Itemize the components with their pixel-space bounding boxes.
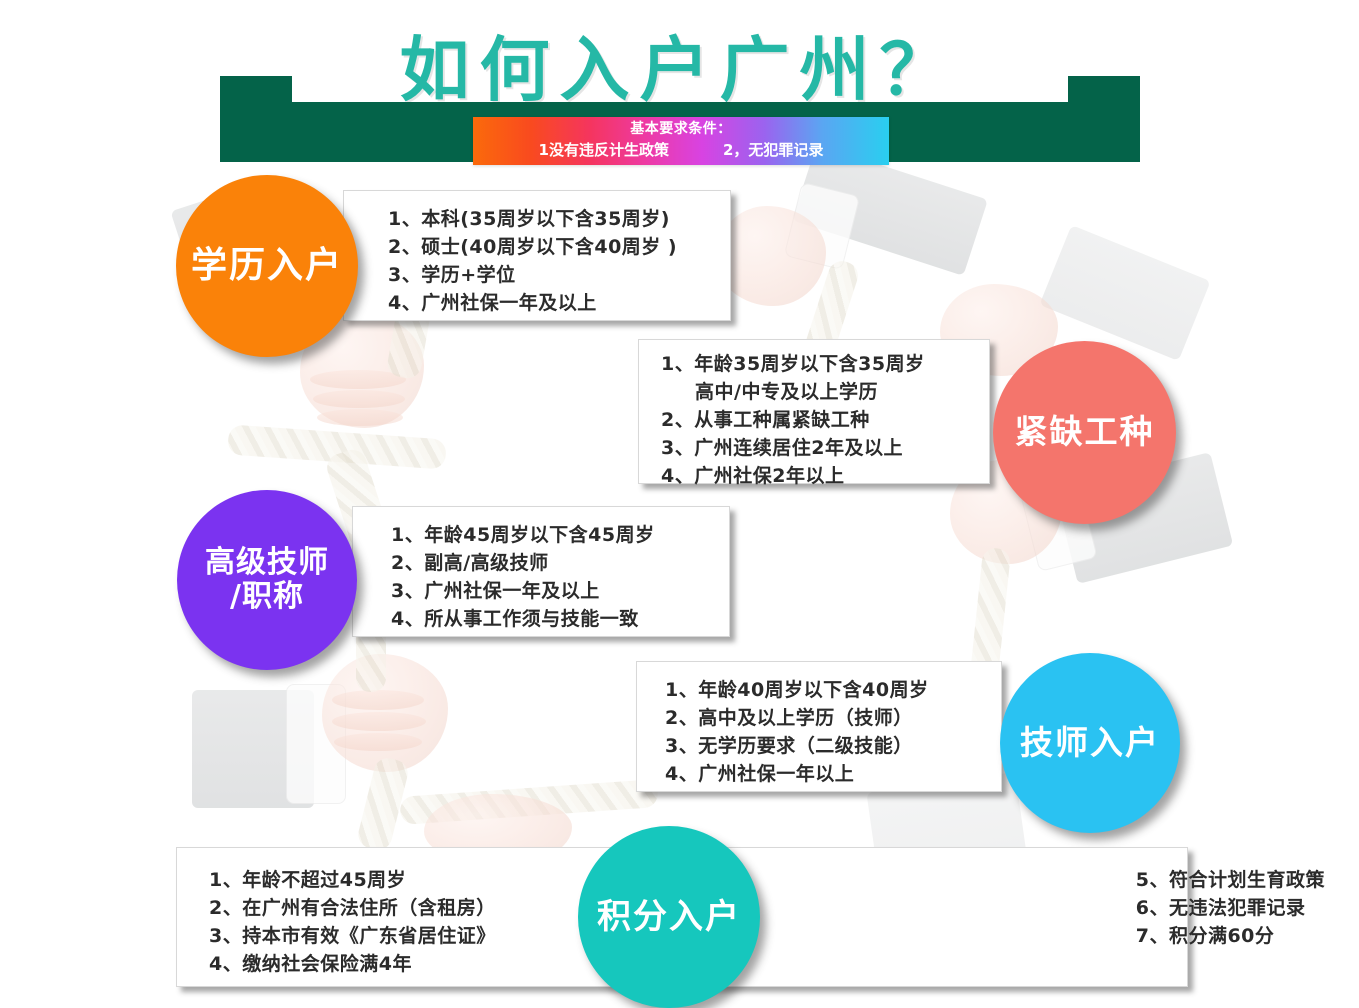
jifen-requirement-list-left: 1、年龄不超过45周岁 2、在广州有合法住所（含租房） 3、持本市有效《广东省居… (177, 866, 496, 978)
list-item: 6、无违法犯罪记录 (1136, 894, 1325, 922)
category-label: 技师入户 (1020, 725, 1160, 762)
list-item: 1、年龄40周岁以下含40周岁 (665, 676, 1001, 704)
category-badge-jishi-ruhu[interactable]: 技师入户 (1000, 653, 1180, 833)
list-item: 2、从事工种属紧缺工种 (661, 406, 989, 434)
finger-lower-left-3 (334, 733, 422, 751)
jinque-requirement-list: 1、年龄35周岁以下含35周岁 高中/中专及以上学历 2、从事工种属紧缺工种 3… (661, 350, 989, 490)
panel-jinque-gongzhong: 1、年龄35周岁以下含35周岁 高中/中专及以上学历 2、从事工种属紧缺工种 3… (638, 339, 990, 484)
category-label: 学历入户 (191, 246, 343, 286)
list-item: 3、广州连续居住2年及以上 (661, 434, 989, 462)
basic-requirements-banner: 基本要求条件： 1没有违反计生政策 2，无犯罪记录 (473, 117, 889, 165)
basic-requirement-item-2: 2，无犯罪记录 (723, 139, 823, 161)
panel-jishi-ruhu: 1、年龄40周岁以下含40周岁 2、高中及以上学历（技师） 3、无学历要求（二级… (636, 661, 1002, 792)
infographic-poster: 如何入户广州？ 基本要求条件： 1没有违反计生政策 2，无犯罪记录 1、本科(3… (0, 0, 1359, 1008)
list-item: 7、积分满60分 (1136, 922, 1325, 950)
category-badge-gaoji-jishi[interactable]: 高级技师 /职称 (177, 490, 357, 670)
list-item: 1、年龄35周岁以下含35周岁 (661, 350, 989, 378)
list-item: 2、硕士(40周岁以下含40周岁 ) (388, 233, 730, 261)
list-item: 高中/中专及以上学历 (661, 378, 989, 406)
finger-lower-left-1 (332, 690, 424, 710)
list-item: 1、年龄45周岁以下含45周岁 (391, 521, 729, 549)
list-item: 4、广州社保一年以上 (665, 760, 1001, 788)
category-badge-jinque-gongzhong[interactable]: 紧缺工种 (993, 341, 1176, 524)
category-badge-xueli-ruhu[interactable]: 学历入户 (176, 175, 358, 357)
list-item: 2、副高/高级技师 (391, 549, 729, 577)
list-item: 3、持本市有效《广东省居住证》 (209, 922, 496, 950)
list-item: 1、年龄不超过45周岁 (209, 866, 496, 894)
finger-upper-left-2 (313, 390, 405, 408)
category-label-line1: 高级技师 (205, 545, 329, 580)
basic-requirements-heading: 基本要求条件： (473, 117, 889, 139)
list-item: 5、符合计划生育政策 (1136, 866, 1325, 894)
panel-gaoji-jishi: 1、年龄45周岁以下含45周岁 2、副高/高级技师 3、广州社保一年及以上 4、… (352, 506, 730, 637)
list-item: 3、无学历要求（二级技能） (665, 732, 1001, 760)
list-item: 3、广州社保一年及以上 (391, 577, 729, 605)
finger-lower-left-2 (332, 712, 426, 731)
hand-upper-right (716, 206, 826, 306)
list-item: 1、本科(35周岁以下含35周岁) (388, 205, 730, 233)
basic-requirement-item-1: 1没有违反计生政策 (539, 139, 669, 161)
list-item: 2、高中及以上学历（技师） (665, 704, 1001, 732)
list-item: 4、广州社保2年以上 (661, 462, 989, 490)
category-label-wrap: 高级技师 /职称 (205, 546, 329, 613)
panel-xueli-ruhu: 1、本科(35周岁以下含35周岁) 2、硕士(40周岁以下含40周岁 ) 3、学… (343, 190, 731, 321)
sleeve-right-2 (1039, 225, 1210, 361)
xueli-requirement-list: 1、本科(35周岁以下含35周岁) 2、硕士(40周岁以下含40周岁 ) 3、学… (388, 205, 730, 317)
list-item: 4、所从事工作须与技能一致 (391, 605, 729, 633)
jishi-requirement-list: 1、年龄40周岁以下含40周岁 2、高中及以上学历（技师） 3、无学历要求（二级… (665, 676, 1001, 788)
basic-requirements-row: 1没有违反计生政策 2，无犯罪记录 (473, 139, 889, 161)
list-item: 4、缴纳社会保险满4年 (209, 950, 496, 978)
list-item: 3、学历+学位 (388, 261, 730, 289)
list-item: 2、在广州有合法住所（含租房） (209, 894, 496, 922)
list-item: 4、广州社保一年及以上 (388, 289, 730, 317)
category-label: 积分入户 (597, 898, 741, 936)
finger-upper-left-3 (317, 409, 403, 426)
gaoji-requirement-list: 1、年龄45周岁以下含45周岁 2、副高/高级技师 3、广州社保一年及以上 4、… (391, 521, 729, 633)
category-label: 紧缺工种 (1015, 414, 1155, 451)
category-label-line2: /职称 (230, 579, 304, 614)
category-badge-jifen-ruhu[interactable]: 积分入户 (578, 826, 760, 1008)
